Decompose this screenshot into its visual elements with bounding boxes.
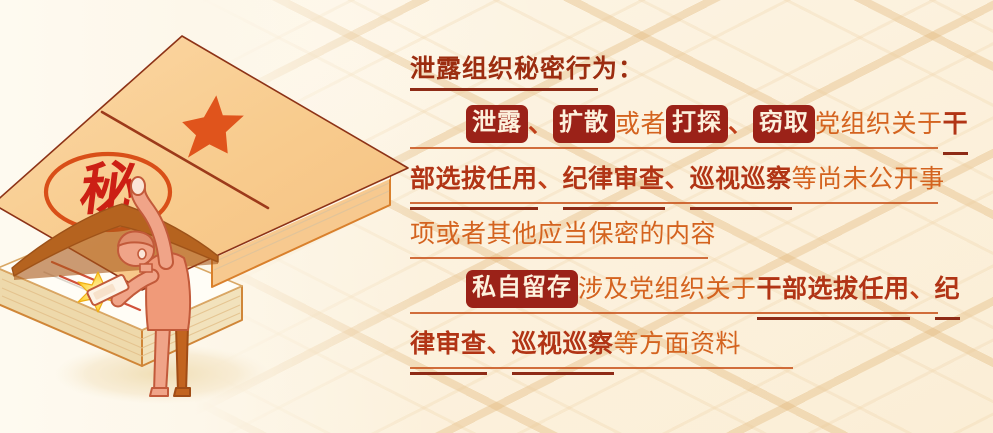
punctuation: 、	[538, 166, 563, 193]
highlight-chip: 私自留存	[466, 270, 578, 308]
emphasised-term: 巡视巡察	[690, 156, 792, 204]
highlight-chip: 扩散	[553, 105, 615, 143]
highlight-chip: 窃取	[753, 105, 815, 143]
punctuation: 、	[665, 166, 690, 193]
emphasised-term: 部选拔任用	[410, 156, 538, 204]
emphasised-term: 律审查	[410, 321, 487, 369]
emphasised-term: 干	[943, 101, 969, 149]
punctuation: 、	[528, 111, 553, 138]
text-line: 私自留存涉及党组织关于干部选拔任用、纪	[410, 266, 938, 321]
plain-text: 涉及党组织关于	[578, 276, 757, 303]
highlight-chip: 泄露	[466, 105, 528, 143]
text-column: 泄露组织秘密行为： 泄露、扩散或者打探、窃取党组织关于干部选拔任用、纪律审查、巡…	[410, 46, 938, 376]
text-line: 项或者其他应当保密的内容	[410, 211, 938, 266]
plain-text: 或者	[615, 111, 666, 138]
text-line: 律审查、巡视巡察等方面资料	[410, 321, 938, 376]
emphasised-term: 纪	[935, 266, 961, 314]
plain-text: 等尚未公开事	[792, 166, 945, 193]
poster-canvas: 秘	[0, 0, 993, 433]
punctuation: 、	[487, 331, 512, 358]
text-line: 部选拔任用、纪律审查、巡视巡察等尚未公开事	[410, 156, 938, 211]
highlight-chip: 打探	[666, 105, 728, 143]
emphasised-term: 干部选拔任用	[757, 266, 910, 314]
emphasised-term: 巡视巡察	[512, 321, 614, 369]
plain-text: 项或者其他应当保密的内容	[410, 221, 716, 248]
plain-text: 等方面资料	[614, 331, 742, 358]
page-title: 泄露组织秘密行为：	[410, 46, 938, 101]
plain-text: 党组织关于	[815, 111, 943, 138]
body-text: 泄露、扩散或者打探、窃取党组织关于干部选拔任用、纪律审查、巡视巡察等尚未公开事项…	[410, 101, 938, 376]
illustration-secret-document: 秘	[0, 0, 420, 433]
punctuation: 、	[728, 111, 753, 138]
emphasised-term: 纪律审查	[563, 156, 665, 204]
text-line: 泄露、扩散或者打探、窃取党组织关于干	[410, 101, 938, 156]
punctuation: 、	[910, 276, 935, 303]
